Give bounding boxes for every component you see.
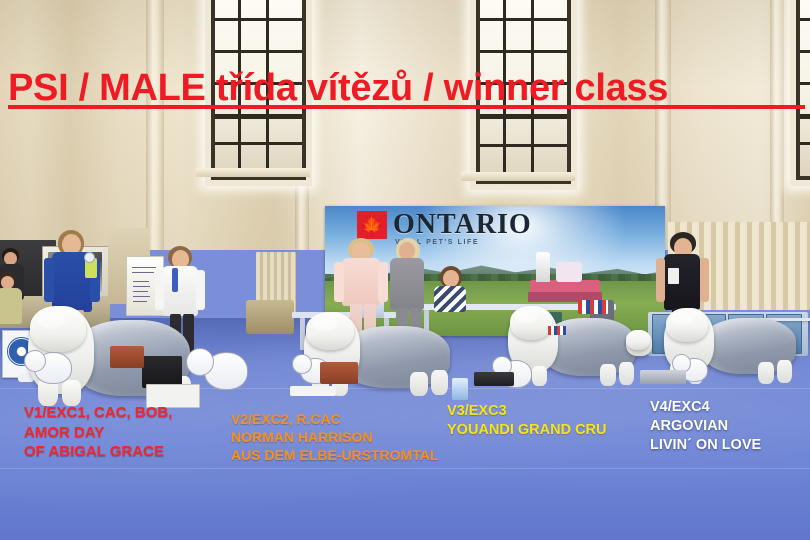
caption-second-place: V2/EXC2, R.CAC NORMAN HARRISON AUS DEM E… [231,410,438,465]
floor-item [640,370,686,384]
maple-leaf-icon: 🍁 [357,211,387,239]
paper-on-floor [290,386,336,396]
banner-brand: ONTARIO [393,209,532,241]
page-title: PSI / MALE třída vítězů / winner class [8,69,668,107]
wall-pilaster [770,0,784,250]
photo-canvas: 🍁 ONTARIO VITAL PET'S LIFE [0,0,810,540]
floor-seam [0,468,810,469]
wall-pilaster [146,0,164,250]
caption-fourth-place: V4/EXC4 ARGOVIAN LIVIN´ ON LOVE [650,398,761,455]
water-bottle [452,378,468,400]
title-underline [8,105,805,109]
wooden-chair [246,300,294,334]
window-sill [461,172,575,181]
caption-third-place: V3/EXC3 YOUANDI GRAND CRU [447,402,607,440]
lanyard [172,268,178,292]
ring-number-card [668,268,679,284]
grooming-mat [474,372,514,386]
grooming-box [110,346,144,368]
trophy-item [556,262,582,282]
rosette-ribbons [578,300,608,314]
caption-first-place: V1/EXC1, CAC, BOB, AMOR DAY OF ABIGAL GR… [24,403,172,462]
hall-window [790,0,810,186]
rosette-badge [84,252,95,263]
grooming-box [320,362,358,384]
trophy-cup [536,252,550,282]
ribbon-on-dog [548,326,566,335]
window-sill [196,168,310,177]
